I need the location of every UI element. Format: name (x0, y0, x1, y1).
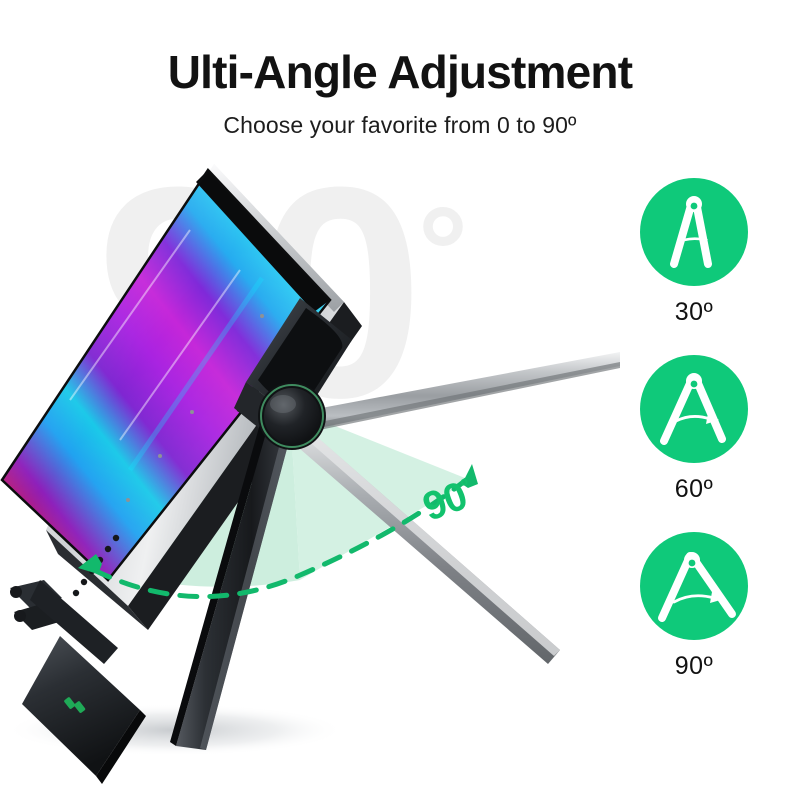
stand-hinge-gloss (270, 395, 296, 413)
angle-preset-90-circle[interactable] (640, 532, 748, 640)
stand-30-icon (640, 178, 748, 286)
angle-preset-90-label: 90º (675, 652, 713, 681)
angle-preset-30[interactable]: 30º (640, 178, 748, 327)
header: Ulti-Angle Adjustment Choose your favori… (0, 0, 800, 139)
product-marketing-image: 90° Ulti-Angle Adjustment Choose your fa… (0, 0, 800, 800)
stand-60-icon (640, 355, 748, 463)
angle-preset-90[interactable]: 90º (640, 532, 748, 681)
angle-preset-60-circle[interactable] (640, 355, 748, 463)
stand-hinge-knob (264, 388, 320, 444)
stand-rod-upper-shade (300, 362, 620, 434)
angle-preset-30-label: 30º (675, 298, 713, 327)
angle-preset-60[interactable]: 60º (640, 355, 748, 504)
angle-preset-60-label: 60º (675, 475, 713, 504)
angle-preset-30-circle[interactable] (640, 178, 748, 286)
product-scene (0, 150, 620, 800)
stand-90-icon (640, 532, 748, 640)
page-title: Ulti-Angle Adjustment (0, 48, 800, 96)
angle-preset-list: 30º 60º (610, 178, 778, 681)
